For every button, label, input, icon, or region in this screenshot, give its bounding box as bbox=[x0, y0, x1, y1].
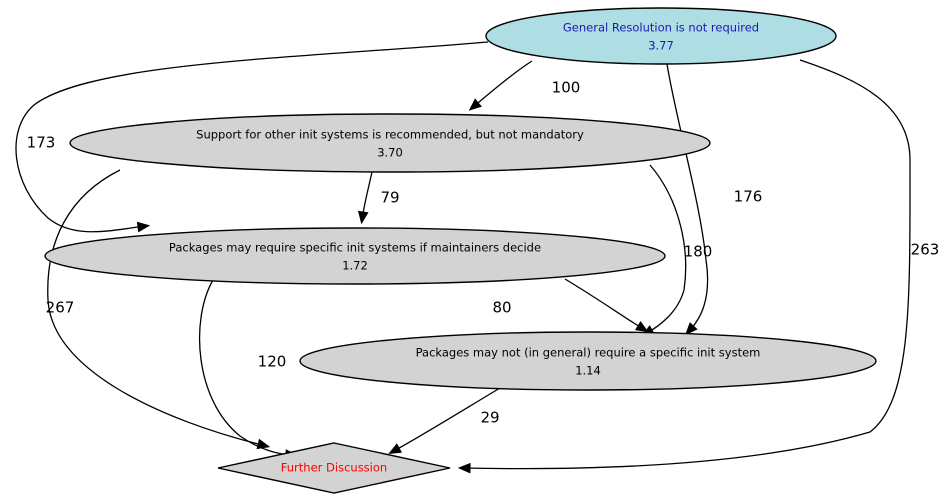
node-score-label: 3.70 bbox=[377, 146, 403, 160]
arrowhead-icon bbox=[359, 211, 368, 223]
edge-weight-label: 79 bbox=[380, 189, 399, 207]
edge-gr_not_required-to-support_other_init: 100 bbox=[470, 61, 581, 110]
node-gr_not_required[interactable]: General Resolution is not required3.77 bbox=[486, 8, 836, 64]
node-score-label: 1.14 bbox=[575, 364, 601, 378]
node-packages_may_require[interactable]: Packages may require specific init syste… bbox=[45, 228, 665, 284]
edge-packages_may_require-to-further_discussion: 120 bbox=[200, 280, 297, 459]
node-ellipse[interactable] bbox=[70, 114, 710, 172]
node-title-label: General Resolution is not required bbox=[563, 21, 759, 35]
node-score-label: 3.77 bbox=[648, 39, 674, 53]
edge-gr_not_required-to-packages_may_not_require: 176 bbox=[667, 64, 762, 334]
condorcet-graph: 100173176263791808012029267 General Reso… bbox=[0, 0, 952, 496]
node-ellipse[interactable] bbox=[45, 228, 665, 284]
arrowhead-icon bbox=[636, 322, 648, 332]
node-packages_may_not_require[interactable]: Packages may not (in general) require a … bbox=[300, 332, 876, 390]
edge-packages_may_not_require-to-further_discussion: 29 bbox=[389, 388, 500, 453]
arrowhead-icon bbox=[459, 464, 470, 473]
edge-weight-label: 29 bbox=[480, 409, 499, 427]
edge-weight-label: 263 bbox=[911, 241, 940, 259]
edge-weight-label: 100 bbox=[552, 79, 581, 97]
edge-weight-label: 120 bbox=[258, 353, 287, 371]
edge-line bbox=[472, 61, 532, 108]
node-title-label: Further Discussion bbox=[281, 461, 387, 475]
edge-line bbox=[667, 64, 708, 332]
edge-weight-label: 80 bbox=[492, 299, 511, 317]
edge-packages_may_require-to-packages_may_not_require: 80 bbox=[492, 279, 647, 332]
node-ellipse[interactable] bbox=[300, 332, 876, 390]
arrowhead-icon bbox=[686, 323, 697, 334]
node-support_other_init[interactable]: Support for other init systems is recomm… bbox=[70, 114, 710, 172]
node-title-label: Support for other init systems is recomm… bbox=[196, 128, 584, 142]
edge-line bbox=[565, 279, 645, 330]
node-score-label: 1.72 bbox=[342, 259, 368, 273]
arrowhead-icon bbox=[389, 444, 401, 453]
edge-line bbox=[48, 170, 266, 446]
node-ellipse[interactable] bbox=[486, 8, 836, 64]
node-title-label: Packages may not (in general) require a … bbox=[416, 346, 761, 360]
edge-support_other_init-to-packages_may_require: 79 bbox=[359, 172, 400, 223]
arrowhead-icon bbox=[137, 222, 148, 231]
edge-support_other_init-to-further_discussion: 267 bbox=[46, 170, 269, 449]
node-title-label: Packages may require specific init syste… bbox=[169, 241, 541, 255]
node-further_discussion[interactable]: Further Discussion bbox=[218, 443, 450, 493]
edge-weight-label: 267 bbox=[46, 299, 75, 317]
edge-weight-label: 173 bbox=[27, 134, 56, 152]
edge-weight-label: 180 bbox=[684, 243, 713, 261]
nodes-layer: General Resolution is not required3.77Su… bbox=[45, 8, 876, 493]
arrowhead-icon bbox=[257, 440, 269, 449]
edge-weight-label: 176 bbox=[734, 188, 763, 206]
graph-canvas: 100173176263791808012029267 General Reso… bbox=[0, 0, 952, 496]
